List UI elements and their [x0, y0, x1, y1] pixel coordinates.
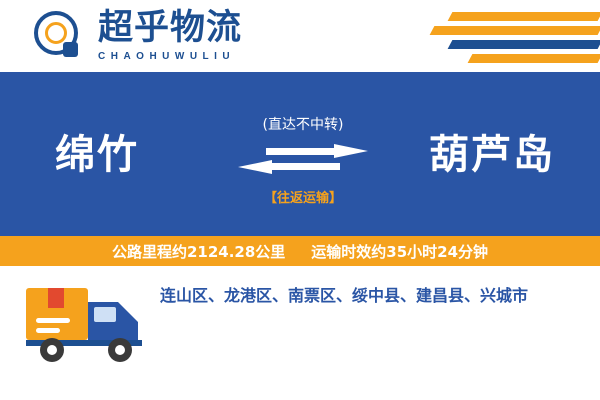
- coverage-section: 连山区、龙港区、南票区、绥中县、建昌县、兴城市: [0, 266, 600, 400]
- stripe-3: [448, 40, 600, 49]
- route-arrow-block: (直达不中转) 【往返运输】: [228, 114, 378, 202]
- distance-text: 公路里程约2124.28公里: [112, 241, 285, 262]
- header-stripes-decoration: [370, 6, 600, 66]
- delivery-truck-icon: [26, 280, 152, 368]
- logo-tail-shape: [63, 42, 78, 57]
- origin-city: 绵竹: [55, 122, 139, 180]
- round-trip-badge: 【往返运输】: [264, 187, 342, 206]
- coverage-areas-text: 连山区、龙港区、南票区、绥中县、建昌县、兴城市: [160, 283, 585, 309]
- circle-logo-icon: [34, 11, 86, 63]
- double-arrow-icon: [238, 144, 368, 174]
- stripe-4: [468, 54, 600, 63]
- destination-city: 葫芦岛: [429, 122, 555, 180]
- stripe-2: [430, 26, 600, 35]
- header: 超乎物流 CHAOHUWULIU: [0, 0, 600, 72]
- direct-route-badge: (直达不中转): [263, 114, 344, 134]
- logo-inner-ring: [45, 22, 67, 44]
- brand-text: 超乎物流 CHAOHUWULIU: [98, 8, 242, 62]
- logistics-poster: 超乎物流 CHAOHUWULIU 绵竹 葫芦岛 (直达不中转) 【往返运输】: [0, 0, 600, 400]
- route-info-bar: 公路里程约2124.28公里 运输时效约35小时24分钟: [0, 236, 600, 266]
- stripe-1: [448, 12, 600, 21]
- route-panel: 绵竹 葫芦岛 (直达不中转) 【往返运输】: [0, 72, 600, 236]
- brand-name-cn: 超乎物流: [98, 8, 242, 48]
- brand-name-en: CHAOHUWULIU: [98, 51, 242, 62]
- duration-text: 运输时效约35小时24分钟: [311, 241, 488, 262]
